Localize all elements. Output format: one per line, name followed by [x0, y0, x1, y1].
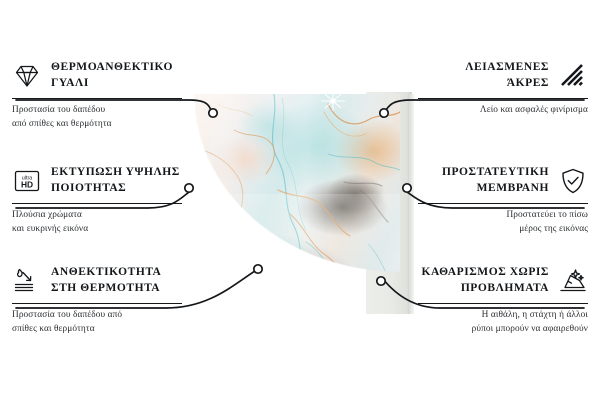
feature-heatproof-glass: ΘΕΡΜΟΑΝΘΕΚΤΙΚΟ ΓΥΑΛΙ Προστασία του δαπέδ… [12, 58, 212, 131]
feature-description: Πλούσια χρώματα και ευκρινής εικόνα [12, 209, 212, 236]
feature-header: ΠΡΟΣΤΑΤΕΥΤΙΚΗ ΜΕΜΒΡΑΝΗ [388, 163, 588, 199]
flame-deflect-icon [12, 266, 42, 296]
feature-header: ΘΕΡΜΟΑΝΘΕΚΤΙΚΟ ΓΥΑΛΙ [12, 58, 212, 94]
feature-divider [418, 98, 588, 99]
feature-title: ΕΚΤΥΠΩΣΗ ΥΨΗΛΗΣ ΠΟΙΟΤΗΤΑΣ [51, 165, 180, 197]
feature-divider [12, 303, 182, 304]
feature-header: ultra HD ΕΚΤΥΠΩΣΗ ΥΨΗΛΗΣ ΠΟΙΟΤΗΤΑΣ [12, 163, 212, 199]
feature-easy-cleaning: ΚΑΘΑΡΙΣΜΟΣ ΧΩΡΙΣ ΠΡΟΒΛΗΜΑΤΑ Η αιθάλη, η … [388, 263, 588, 336]
feature-header: ΑΝΘΕΚΤΙΚΟΤΗΤΑ ΣΤΗ ΘΕΡΜΟΤΗΤΑ [12, 263, 212, 299]
feature-divider [418, 203, 588, 204]
feature-description: Λείο και ασφαλές φινίρισμα [388, 104, 588, 117]
wipe-sparkle-icon [558, 266, 588, 296]
feature-description: Προστασία του δαπέδου από σπίθες και θερ… [12, 104, 212, 131]
feature-divider [12, 203, 182, 204]
diamond-icon [12, 61, 42, 91]
feature-protective-film: ΠΡΟΣΤΑΤΕΥΤΙΚΗ ΜΕΜΒΡΑΝΗ Προστατεύει το πί… [388, 163, 588, 236]
feature-title: ΚΑΘΑΡΙΣΜΟΣ ΧΩΡΙΣ ΠΡΟΒΛΗΜΑΤΑ [421, 265, 549, 297]
shield-check-icon [558, 166, 588, 196]
feature-description: Προστατεύει το πίσω μέρος της εικόνας [388, 209, 588, 236]
feature-description: Προστασία του δαπέδου από σπίθες και θερ… [12, 309, 212, 336]
ultra-hd-icon: ultra HD [12, 166, 42, 196]
feature-header: ΚΑΘΑΡΙΣΜΟΣ ΧΩΡΙΣ ΠΡΟΒΛΗΜΑΤΑ [388, 263, 588, 299]
feature-description: Η αιθάλη, η στάχτη ή άλλοι ρύποι μπορούν… [388, 309, 588, 336]
feature-title: ΘΕΡΜΟΑΝΘΕΚΤΙΚΟ ΓΥΑΛΙ [51, 60, 173, 92]
svg-text:HD: HD [21, 180, 33, 190]
feature-title: ΑΝΘΕΚΤΙΚΟΤΗΤΑ ΣΤΗ ΘΕΡΜΟΤΗΤΑ [51, 265, 161, 297]
feature-smooth-edges: ΛΕΙΑΣΜΕΝΕΣ ΆΚΡΕΣ Λείο και ασφαλές φινίρι… [388, 58, 588, 118]
feature-title: ΠΡΟΣΤΑΤΕΥΤΙΚΗ ΜΕΜΒΡΑΝΗ [442, 165, 549, 197]
feature-heat-resistance: ΑΝΘΕΚΤΙΚΟΤΗΤΑ ΣΤΗ ΘΕΡΜΟΤΗΤΑ Προστασία το… [12, 263, 212, 336]
feature-divider [418, 303, 588, 304]
feature-divider [12, 98, 182, 99]
feature-print-quality: ultra HD ΕΚΤΥΠΩΣΗ ΥΨΗΛΗΣ ΠΟΙΟΤΗΤΑΣ Πλούσ… [12, 163, 212, 236]
feature-header: ΛΕΙΑΣΜΕΝΕΣ ΆΚΡΕΣ [388, 58, 588, 94]
feature-title: ΛΕΙΑΣΜΕΝΕΣ ΆΚΡΕΣ [465, 60, 549, 92]
infographic-canvas: ΘΕΡΜΟΑΝΘΕΚΤΙΚΟ ΓΥΑΛΙ Προστασία του δαπέδ… [0, 0, 600, 400]
diagonal-stripes-icon [558, 61, 588, 91]
